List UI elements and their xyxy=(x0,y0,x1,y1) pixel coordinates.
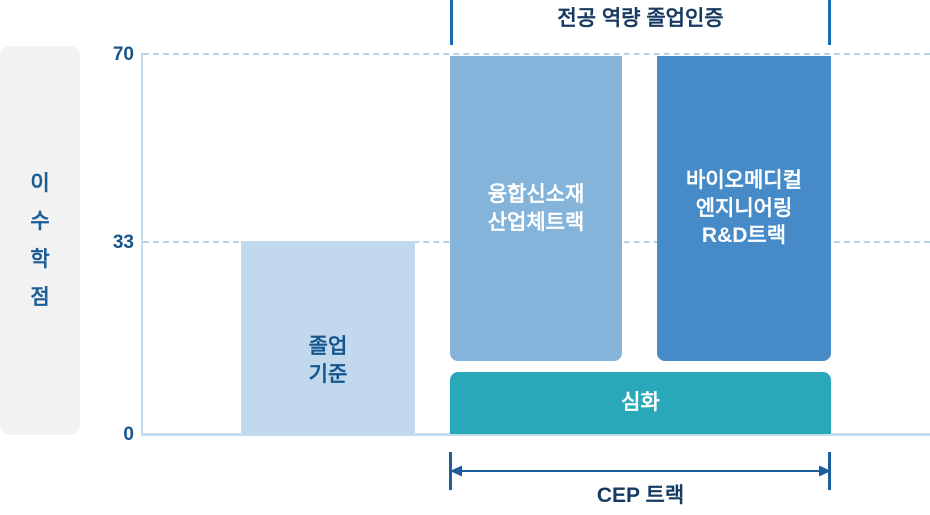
gridline-70 xyxy=(143,53,930,55)
y-axis-title-vertical: 이 수 학 점 xyxy=(30,165,49,317)
chart-canvas: 이 수 학 점 70 33 0 졸업 기준 융합신소재 산업체트랙 바이오메디컬… xyxy=(0,0,930,515)
bar-advanced-course[interactable]: 심화 xyxy=(450,372,831,434)
bar-label-newmaterial-track: 융합신소재 산업체트랙 xyxy=(488,181,585,236)
y-axis-title-char-1: 이 xyxy=(30,165,49,203)
bar-label-graduation-standard: 졸업 기준 xyxy=(309,333,348,388)
bar-label-biomedical-track: 바이오메디컬 엔지니어링 R&D트랙 xyxy=(686,167,802,250)
y-axis-title-char-4: 점 xyxy=(30,279,49,317)
y-axis-title-char-3: 학 xyxy=(30,241,49,279)
bar-graduation-standard[interactable]: 졸업 기준 xyxy=(241,241,415,434)
chart-header-title: 전공 역량 졸업인증 xyxy=(453,8,828,29)
header-bracket-right-line xyxy=(828,0,831,45)
y-axis-title-char-2: 수 xyxy=(30,203,49,241)
bar-newmaterial-track[interactable]: 융합신소재 산업체트랙 xyxy=(450,56,622,361)
y-axis-line xyxy=(141,53,143,435)
y-axis-tick-33: 33 xyxy=(98,233,134,252)
chart-footer-title: CEP 트랙 xyxy=(450,485,831,506)
y-axis-title-box: 이 수 학 점 xyxy=(0,46,80,435)
double-headed-arrow-icon xyxy=(450,464,831,478)
y-axis-tick-70: 70 xyxy=(98,45,134,64)
bar-biomedical-track[interactable]: 바이오메디컬 엔지니어링 R&D트랙 xyxy=(657,56,831,361)
bar-label-advanced-course: 심화 xyxy=(621,389,660,417)
y-axis-tick-0: 0 xyxy=(98,425,134,444)
